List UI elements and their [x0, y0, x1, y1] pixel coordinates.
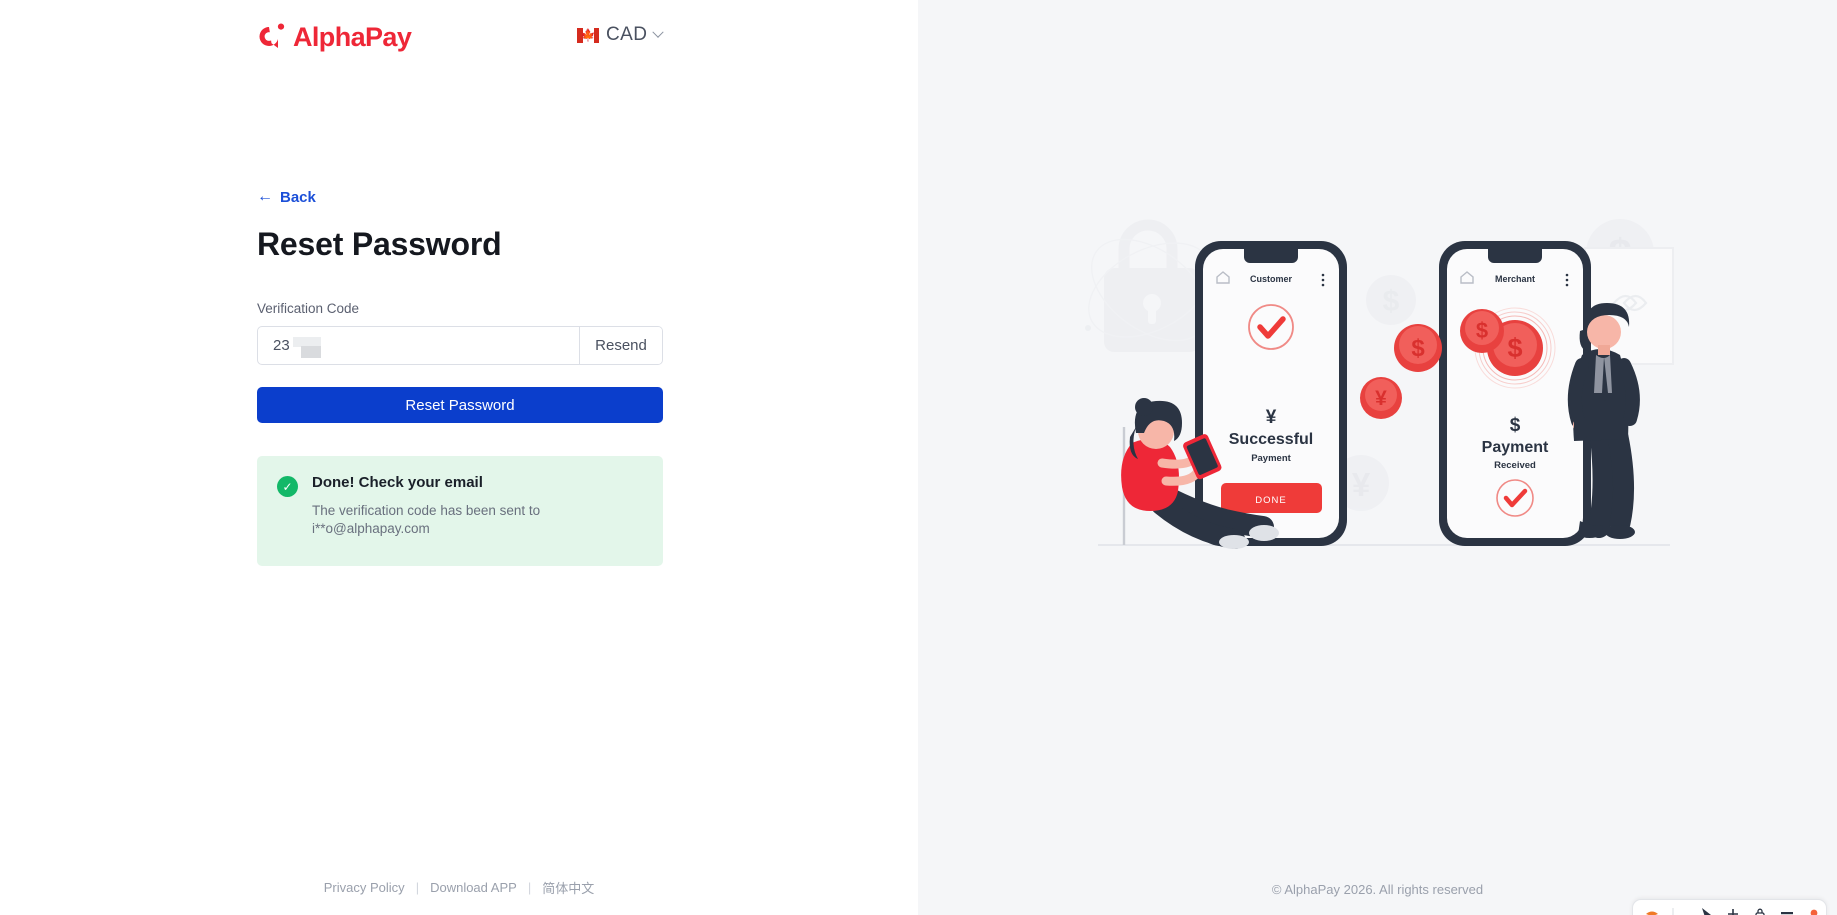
svg-text:Payment: Payment [1481, 439, 1548, 456]
toolbar-menu-icon[interactable] [1780, 907, 1794, 915]
svg-text:$: $ [1509, 415, 1520, 436]
footer-separator-2: | [528, 880, 531, 895]
success-alert-body: Done! Check your email The verification … [312, 474, 562, 537]
left-panel: AlphaPay 🍁 CAD ← Back Reset Password Ver… [0, 0, 918, 915]
success-alert: ✓ Done! Check your email The verificatio… [257, 456, 663, 566]
floating-toolbar[interactable] [1632, 899, 1827, 915]
svg-text:$: $ [1382, 285, 1399, 318]
svg-text:$: $ [1411, 335, 1425, 362]
header-bar: AlphaPay 🍁 CAD [257, 22, 677, 52]
toolbar-cursor-icon[interactable] [1699, 907, 1713, 915]
chevron-down-icon [653, 27, 664, 38]
svg-text:$: $ [1475, 318, 1487, 343]
canada-flag-icon: 🍁 [577, 28, 599, 43]
back-link[interactable]: ← Back [257, 189, 316, 206]
toolbar-separator [1672, 907, 1686, 915]
svg-text:$: $ [1507, 333, 1522, 363]
arrow-left-icon: ← [257, 189, 273, 205]
verification-code-group: Resend [257, 326, 663, 365]
svg-text:¥: ¥ [1265, 407, 1276, 428]
reset-password-form: ← Back Reset Password Verification Code … [257, 188, 663, 566]
download-app-link[interactable]: Download APP [430, 880, 517, 895]
svg-text:Received: Received [1494, 460, 1536, 471]
copyright-text: © AlphaPay 2026. All rights reserved [918, 882, 1837, 897]
svg-text:¥: ¥ [1375, 387, 1387, 410]
alphapay-logo-icon [257, 22, 286, 52]
alphapay-logo-text: AlphaPay [293, 24, 411, 51]
toolbar-plus-icon[interactable] [1726, 907, 1740, 915]
right-panel: $ $ ¥ Custome [918, 0, 1837, 915]
alphapay-logo[interactable]: AlphaPay [257, 22, 411, 52]
toolbar-status-dot-icon[interactable] [1807, 907, 1821, 915]
svg-text:¥: ¥ [1351, 466, 1370, 503]
toolbar-brand-icon[interactable] [1645, 907, 1659, 915]
svg-text:Merchant: Merchant [1494, 274, 1534, 284]
currency-code: CAD [606, 24, 647, 46]
check-circle-icon: ✓ [277, 476, 298, 497]
success-alert-description: The verification code has been sent to i… [312, 502, 562, 537]
verification-code-input[interactable] [258, 327, 579, 364]
svg-text:Successful: Successful [1228, 431, 1312, 448]
language-switch-link[interactable]: 简体中文 [542, 878, 594, 897]
reset-password-button[interactable]: Reset Password [257, 387, 663, 423]
svg-text:DONE: DONE [1255, 495, 1286, 506]
payment-illustration: $ $ ¥ Custome [1058, 205, 1698, 590]
svg-text:Customer: Customer [1249, 274, 1292, 284]
svg-text:Payment: Payment [1251, 453, 1291, 464]
phone-customer: Customer ¥ Successful Payment DONE [1195, 241, 1347, 546]
resend-button[interactable]: Resend [579, 327, 662, 364]
reset-password-page: AlphaPay 🍁 CAD ← Back Reset Password Ver… [0, 0, 1837, 915]
toolbar-lock-icon[interactable] [1753, 907, 1767, 915]
page-title: Reset Password [257, 226, 663, 263]
back-link-label: Back [280, 189, 316, 206]
currency-selector[interactable]: 🍁 CAD [577, 24, 662, 46]
footer-separator-1: | [416, 880, 419, 895]
privacy-policy-link[interactable]: Privacy Policy [324, 880, 405, 895]
success-alert-title: Done! Check your email [312, 474, 562, 491]
footer-links: Privacy Policy | Download APP | 简体中文 [0, 878, 918, 897]
verification-code-label: Verification Code [257, 301, 663, 316]
